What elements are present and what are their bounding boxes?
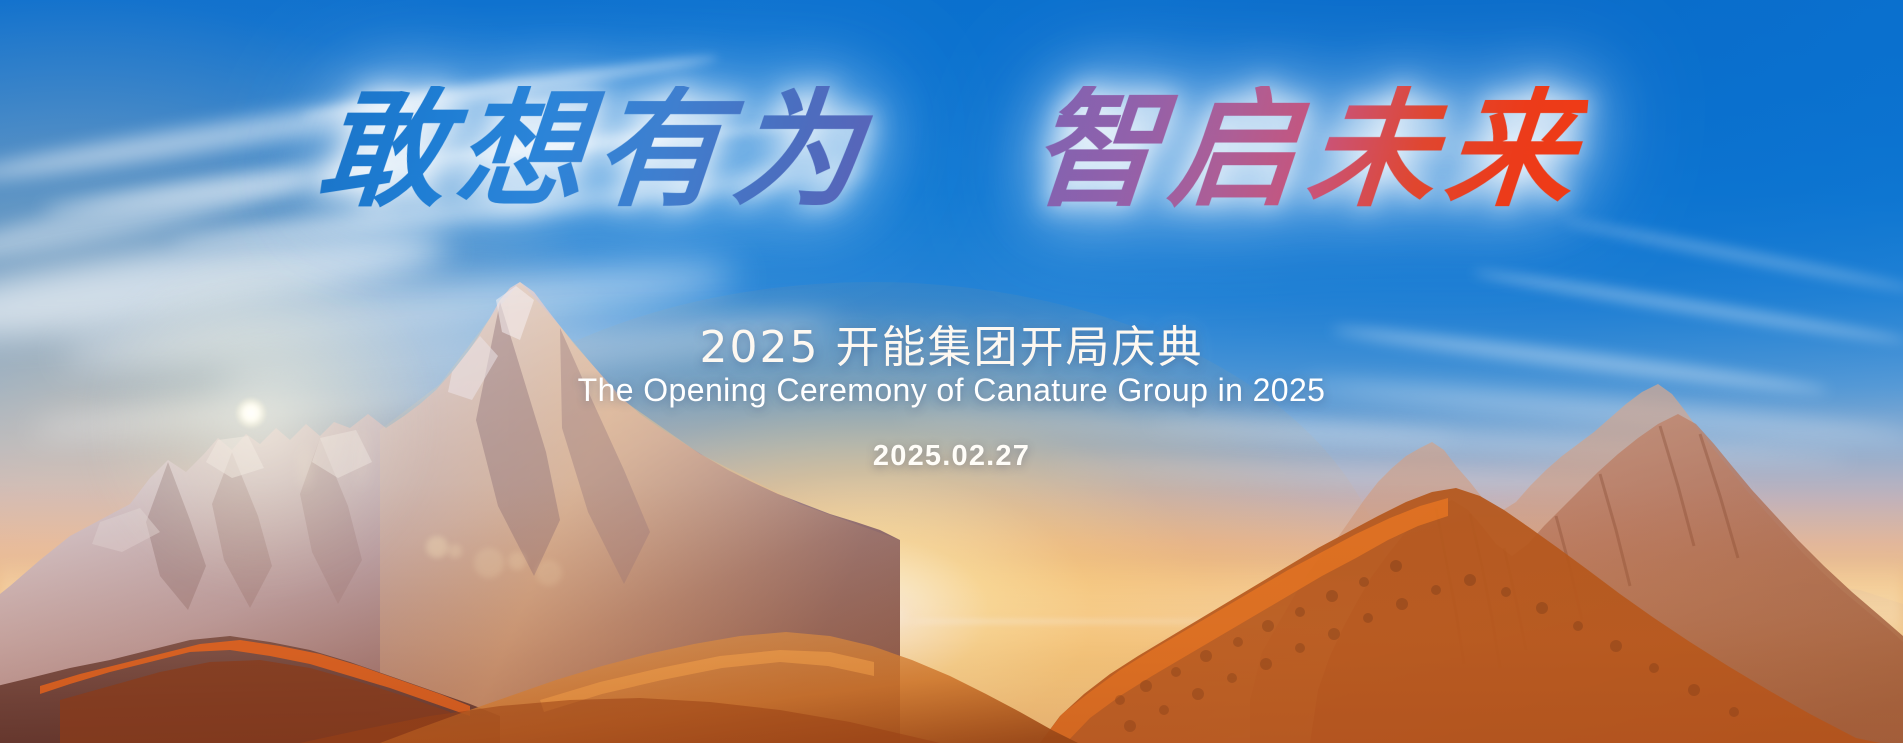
event-banner: 敢想有为 智启未来 2025 开能集团开局庆典 The Opening Cere… xyxy=(0,0,1903,743)
headline-calligraphy: 敢想有为 智启未来 xyxy=(0,86,1903,214)
lens-flare-dot xyxy=(426,536,448,558)
lens-flare-dot xyxy=(474,548,504,578)
lens-flare-dot xyxy=(536,560,562,586)
subtitle-english: The Opening Ceremony of Canature Group i… xyxy=(0,372,1903,409)
lens-flare-dot xyxy=(508,552,526,570)
headline-segment-blue: 敢想有为 xyxy=(313,86,876,214)
subtitle-chinese: 2025 开能集团开局庆典 xyxy=(0,311,1903,375)
event-date: 2025.02.27 xyxy=(0,440,1903,473)
headline-segment-red: 智启未来 xyxy=(1026,86,1589,214)
lens-flare-dot xyxy=(448,544,462,558)
